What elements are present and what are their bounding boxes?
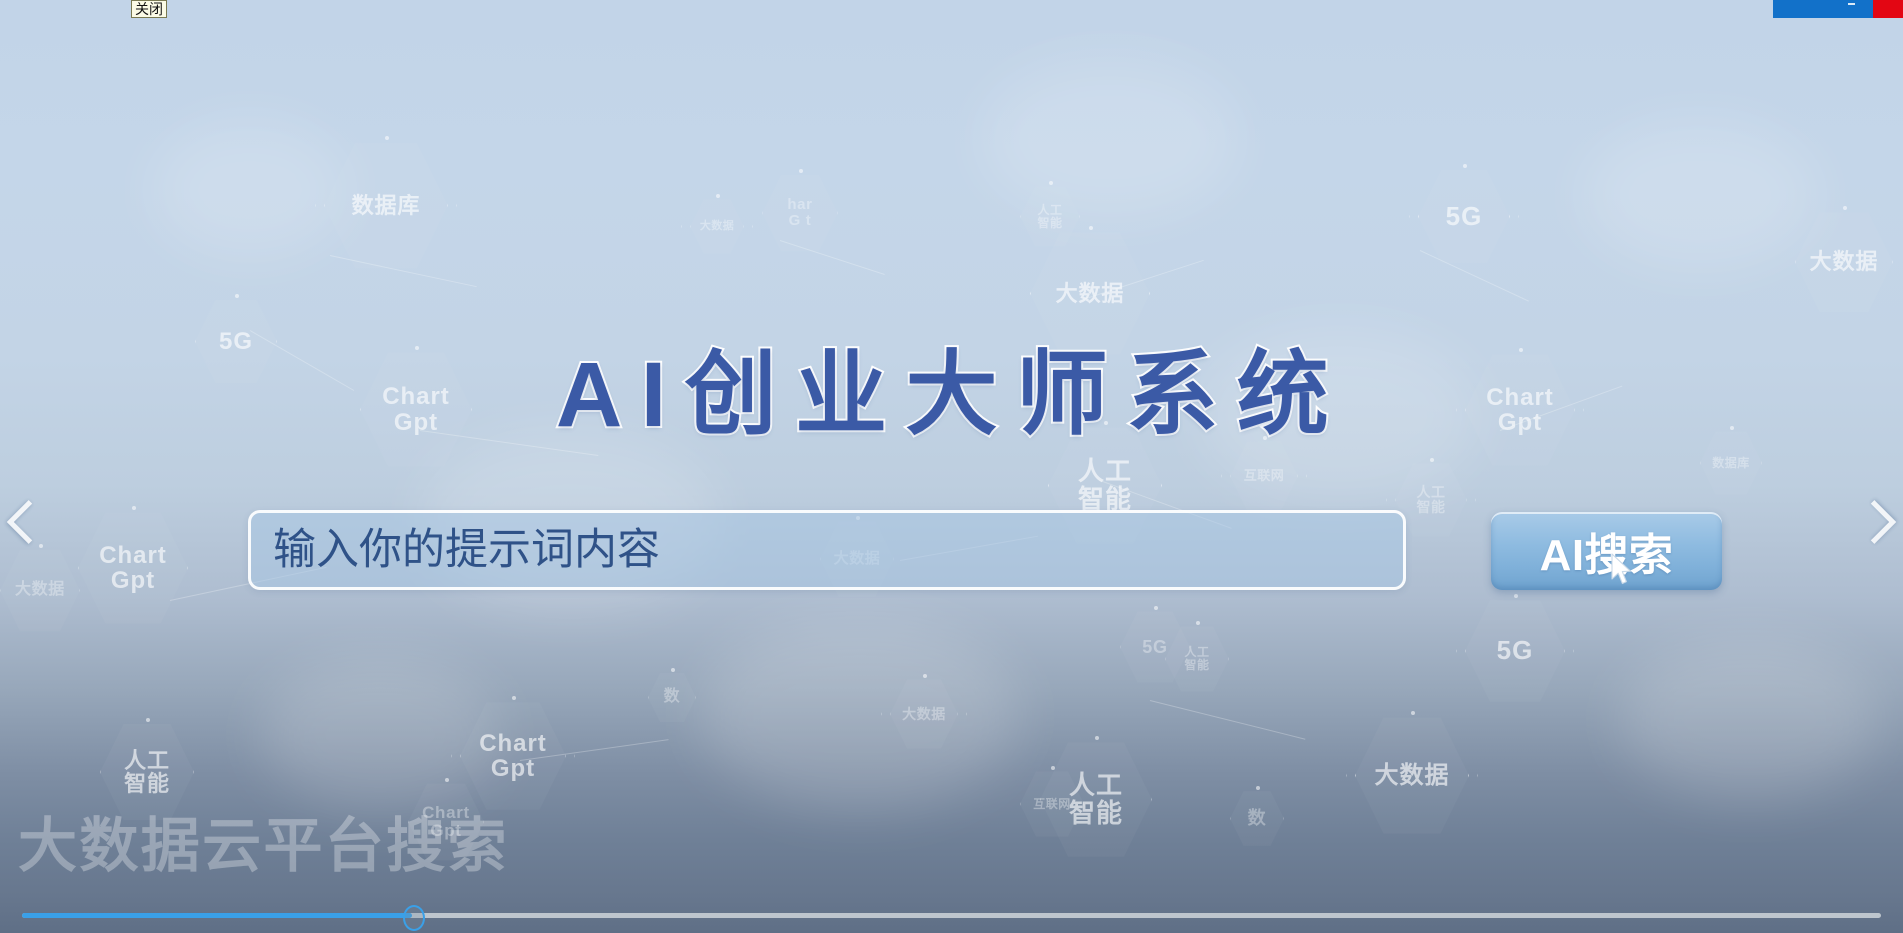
bokeh-blob	[150, 120, 350, 260]
network-line	[780, 240, 885, 275]
background-hexagon: 人工 智能	[1040, 740, 1152, 859]
background-hexagon: har G t	[762, 173, 838, 253]
background-hexagon-label: 数据库	[352, 194, 421, 217]
prev-slide-arrow[interactable]	[3, 493, 45, 551]
network-line	[1420, 250, 1529, 302]
close-button[interactable]	[1873, 0, 1903, 18]
ai-search-button[interactable]: AI搜索	[1491, 512, 1722, 590]
bokeh-blob	[980, 60, 1240, 220]
background-hexagon: 大数据	[1355, 715, 1469, 836]
background-hexagon: 数据库	[324, 140, 448, 271]
network-node-dot	[1049, 181, 1053, 185]
close-tooltip: 关闭	[131, 0, 167, 18]
background-hexagon-label: 互联网	[1033, 798, 1070, 811]
background-hexagon: 人工 智能	[1020, 185, 1080, 248]
slider-fill	[22, 913, 412, 918]
bokeh-blob	[1620, 640, 1880, 800]
background-hexagon: Chart Gpt	[460, 700, 566, 812]
browser-tab-strip[interactable]	[1773, 0, 1873, 18]
network-node-dot	[716, 194, 720, 198]
background-hexagon-ring	[1346, 709, 1478, 842]
background-hexagon-label: 5G	[1446, 203, 1483, 230]
background-hexagon-label: 人工 智能	[1185, 646, 1210, 671]
network-node-dot	[1463, 164, 1467, 168]
background-hexagon-label: 数据库	[1712, 457, 1749, 470]
background-hexagon-label: Chart Gpt	[422, 804, 470, 840]
slideshow-stage: 数据库大数据人工 智能5G5GChart GptChart GptChart G…	[0, 0, 1903, 933]
network-node-dot	[1430, 458, 1434, 462]
search-row: AI搜索	[0, 510, 1903, 594]
background-hexagon: 5G	[1465, 598, 1565, 704]
bokeh-blob	[260, 660, 500, 810]
network-node-dot	[1843, 206, 1847, 210]
background-hexagon-ring	[1456, 592, 1574, 710]
background-hexagon: 5G	[1120, 610, 1190, 684]
network-node-dot	[1154, 606, 1158, 610]
network-node-dot	[923, 674, 927, 678]
network-node-dot	[146, 718, 150, 722]
network-node-dot	[1095, 736, 1099, 740]
chevron-left-icon	[7, 500, 51, 544]
background-watermark-text: 大数据云平台搜索	[18, 798, 509, 883]
network-node-dot	[1196, 621, 1200, 625]
background-hexagon: 大数据	[690, 198, 744, 255]
background-hexagon-label: 人工 智能	[1069, 772, 1123, 827]
background-hexagon-label: 数	[1248, 809, 1267, 828]
network-node-dot	[235, 294, 239, 298]
network-line	[1150, 700, 1305, 740]
background-hexagon-label: 人工 智能	[1038, 204, 1063, 229]
background-hexagon-label: har G t	[787, 197, 812, 229]
background-hexagon-label: 5G	[1142, 638, 1167, 657]
network-node-dot	[385, 136, 389, 140]
background-hexagon: 数	[1230, 790, 1284, 847]
background-decoration: 数据库大数据人工 智能5G5GChart GptChart GptChart G…	[0, 0, 1903, 933]
background-hexagon-label: 大数据	[700, 221, 734, 233]
next-slide-arrow[interactable]	[1858, 493, 1900, 551]
network-line	[1080, 260, 1204, 301]
background-hexagon-label: 大数据	[1810, 250, 1879, 273]
background-hexagon-label: 大数据	[1056, 282, 1125, 305]
chevron-right-icon	[1852, 500, 1896, 544]
network-node-dot	[799, 169, 803, 173]
background-hexagon-ring	[451, 694, 575, 818]
background-hexagon: 5G	[1418, 168, 1510, 265]
browser-topbar	[1773, 0, 1903, 18]
slider-handle[interactable]	[403, 905, 425, 931]
background-hexagon: 人工 智能	[1165, 625, 1229, 693]
search-input[interactable]	[251, 513, 1403, 587]
search-input-container[interactable]	[248, 510, 1406, 590]
background-hexagon: 数	[648, 672, 696, 723]
network-node-dot	[1411, 711, 1415, 715]
network-line	[520, 739, 669, 761]
progress-slider[interactable]	[22, 905, 1881, 925]
background-hexagon-ring	[1409, 162, 1519, 271]
background-hexagon-label: 互联网	[1244, 469, 1285, 483]
background-hexagon-ring	[681, 192, 753, 261]
page-title: AI创业大师系统	[0, 320, 1903, 453]
network-node-dot	[445, 778, 449, 782]
background-hexagon-label: 人工 智能	[124, 749, 170, 795]
network-node-dot	[1051, 766, 1055, 770]
background-hexagon-label: Chart Gpt	[479, 731, 546, 781]
background-hexagon-label: 5G	[1497, 637, 1534, 664]
network-node-dot	[1089, 226, 1093, 230]
background-hexagon: 人工 智能	[100, 722, 194, 822]
background-hexagon-ring	[881, 672, 967, 756]
background-hexagon-label: 人工 智能	[1078, 458, 1132, 513]
bokeh-blob	[700, 620, 1020, 810]
background-hexagon-ring	[315, 134, 457, 277]
network-node-dot	[512, 696, 516, 700]
background-hexagon: Chart Gpt	[408, 782, 484, 862]
network-line	[330, 255, 477, 287]
network-node-dot	[1256, 786, 1260, 790]
background-hexagon-label: 大数据	[902, 707, 946, 722]
background-hexagon: 大数据	[890, 678, 958, 750]
network-node-dot	[671, 668, 675, 672]
background-hexagon-label: 数	[664, 689, 681, 706]
network-node-dot	[1514, 594, 1518, 598]
bokeh-blob	[1580, 120, 1820, 270]
background-hexagon-label: 大数据	[1375, 763, 1450, 788]
background-hexagon: 互联网	[1020, 770, 1084, 838]
background-hexagon: 大数据	[1795, 210, 1893, 314]
